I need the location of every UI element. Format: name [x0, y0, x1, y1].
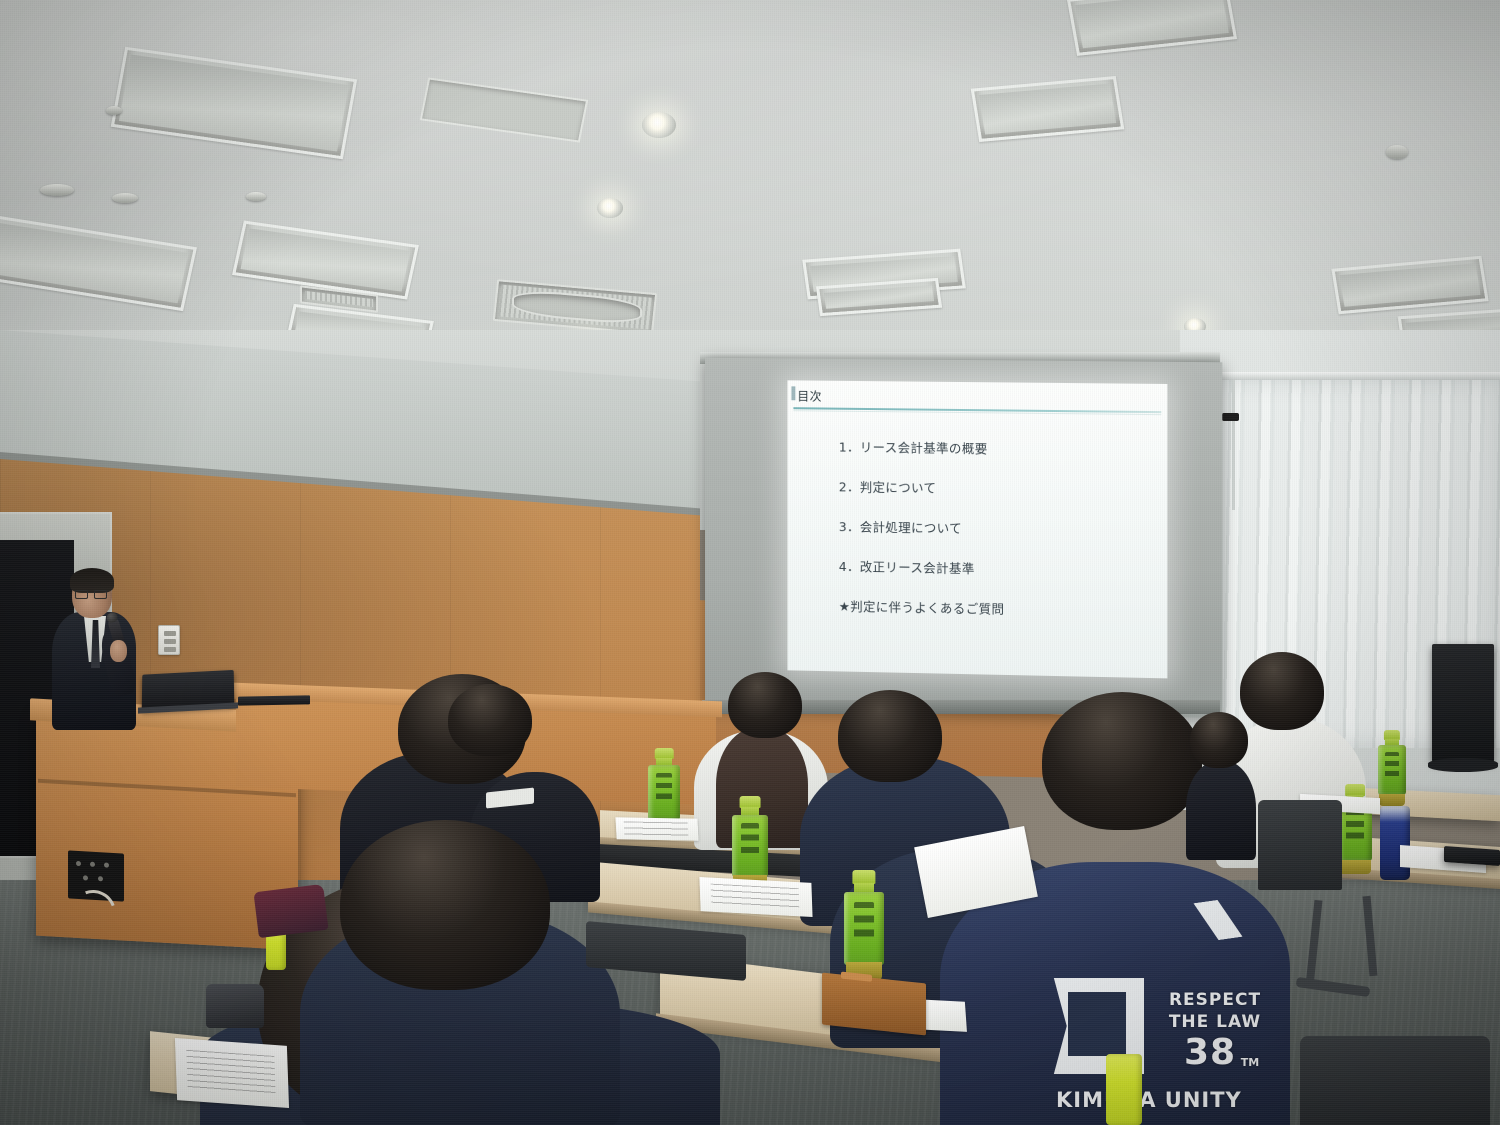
projection-screen: 目次 1．リース会計基準の概要 2．判定について 3．会計処理について 4．改正…	[705, 358, 1222, 718]
secondary-laptop[interactable]	[238, 695, 310, 705]
attendee-foreground-mask-head	[340, 820, 550, 990]
handout-paper-1	[615, 817, 698, 840]
bag-on-floor-2	[206, 984, 264, 1028]
blind-clip-icon[interactable]	[1222, 413, 1239, 421]
jacket-text-bottom: KIMURA UNITY	[1056, 1088, 1266, 1112]
presenter-hand	[110, 640, 127, 662]
bag-on-floor	[253, 884, 328, 938]
green-tea-bottle-2	[732, 796, 768, 890]
ceiling-sensor-2-icon	[40, 184, 74, 196]
presentation-slide: 目次 1．リース会計基準の概要 2．判定について 3．会計処理について 4．改正…	[787, 380, 1167, 678]
blue-bottle	[1380, 806, 1410, 880]
chair-right[interactable]	[1258, 800, 1342, 890]
attendee-vest-head	[728, 672, 802, 738]
monitor-stand	[1428, 758, 1498, 772]
ceiling-sensor-icon	[106, 106, 122, 115]
jacket-tm-mark: TM	[1236, 1056, 1264, 1069]
ceiling-downlight-1	[642, 112, 676, 138]
green-tea-bottle-3	[844, 870, 884, 980]
green-tea-bottle-5	[1378, 730, 1406, 806]
ceiling-sensor-3-icon	[112, 193, 138, 203]
chair-bottom-right[interactable]	[1300, 1036, 1490, 1125]
jacket-text-line2: THE LAW	[1160, 1012, 1270, 1032]
slide-item-4: 4．改正リース会計基準	[839, 556, 1159, 580]
slide-item-3: 3．会計処理について	[839, 516, 1159, 540]
jacket-text-line1: RESPECT	[1160, 990, 1270, 1010]
glasses-icon	[75, 590, 109, 599]
blind-wand[interactable]	[1232, 380, 1235, 510]
attendee-back-left-2-head	[448, 684, 532, 756]
slide-title: 目次	[797, 387, 822, 404]
slide-item-1: 1．リース会計基準の概要	[839, 437, 1159, 460]
blind-rail	[1210, 372, 1500, 380]
attendee-right-back-torso	[1186, 760, 1256, 860]
smoke-detector-icon	[1386, 145, 1408, 159]
attendee-center-front-head	[1042, 692, 1202, 830]
handout-paper-3	[175, 1038, 289, 1108]
ceiling-sensor-4-icon	[246, 192, 266, 201]
monitor[interactable]	[1432, 644, 1494, 762]
handout-paper-2	[699, 877, 812, 917]
yellow-bottle	[1106, 1054, 1142, 1125]
attendee-right-back-head	[1190, 712, 1248, 768]
slide-title-accent-bar	[791, 386, 795, 400]
light-switch-plate[interactable]	[158, 625, 180, 655]
attendee-white-shirt-head	[1240, 652, 1324, 730]
attendee-center-navy-head	[838, 690, 942, 782]
slide-agenda-list: 1．リース会計基準の概要 2．判定について 3．会計処理について 4．改正リース…	[839, 437, 1159, 642]
ceiling-downlight-2	[597, 198, 623, 218]
slide-item-2: 2．判定について	[839, 476, 1159, 499]
slide-item-5: ★判定に伴うよくあるご質問	[839, 596, 1159, 621]
seminar-room-photo: 目次 1．リース会計基準の概要 2．判定について 3．会計処理について 4．改正…	[0, 0, 1500, 1125]
leather-folder	[822, 973, 926, 1036]
